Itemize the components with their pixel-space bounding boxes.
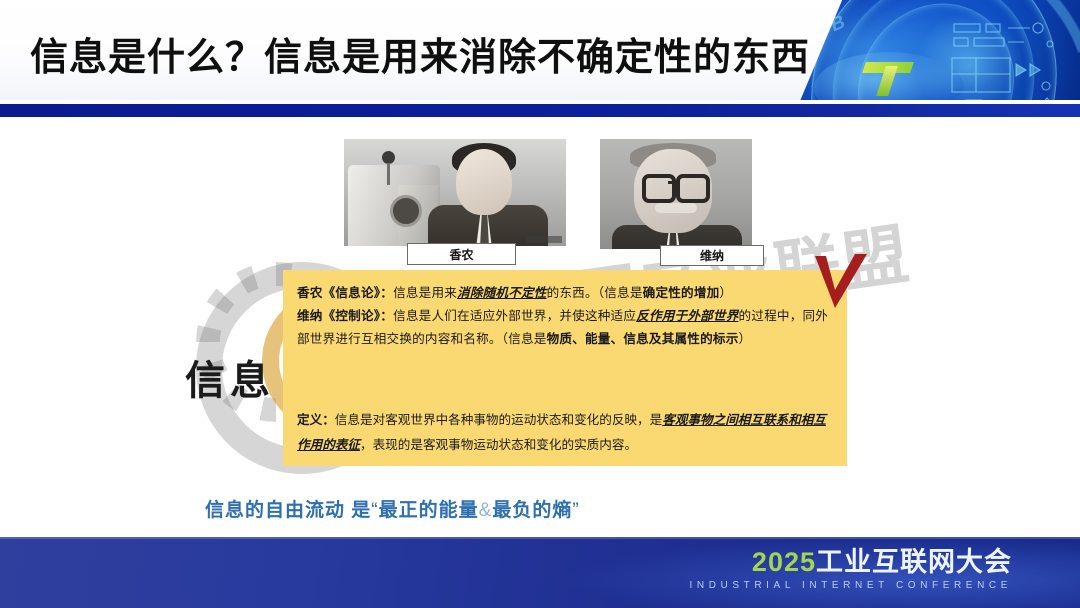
wiener-bold: 物质、能量、信息及其属性的标示 bbox=[547, 332, 739, 346]
shannon-text-b: 的东西。（信息是 bbox=[547, 286, 643, 300]
wiener-text-a: 信息是人们在适应外部世界，并使这种适应 bbox=[393, 309, 636, 323]
definition-label: 定义： bbox=[297, 413, 335, 427]
shannon-text-c: ） bbox=[719, 286, 732, 300]
closing-statement: 信息的自由流动 是“最正的能量&最负的熵” bbox=[205, 495, 580, 522]
slide-root: CB bbox=[0, 0, 1080, 608]
section-label-information: 信息 bbox=[185, 348, 275, 406]
logo-name-cn: 工业互联网大会 bbox=[816, 547, 1012, 577]
wiener-author: 维纳《控制论》： bbox=[297, 309, 393, 323]
footer-top-edge bbox=[0, 537, 1080, 539]
shannon-statement: 香农《信息论》：信息是用来消除随机不定性的东西。（信息是确定性的增加） bbox=[297, 282, 833, 305]
shannon-text-a: 信息是用来 bbox=[393, 286, 457, 300]
caption-wiener: 维纳 bbox=[660, 245, 764, 266]
circuit-pattern-icon bbox=[946, 14, 1074, 100]
shannon-author: 香农《信息论》： bbox=[297, 286, 393, 300]
photo-shannon bbox=[344, 139, 566, 246]
shannon-emphasis: 消除随机不定性 bbox=[457, 286, 547, 300]
highlight-content-box: 香农《信息论》：信息是用来消除随机不定性的东西。（信息是确定性的增加） 维纳《控… bbox=[283, 270, 847, 466]
wiener-statement: 维纳《控制论》：信息是人们在适应外部世界，并使这种适应反作用于外部世界的过程中，… bbox=[297, 305, 833, 351]
closing-lead: 信息的自由流动 是 bbox=[205, 500, 371, 521]
definition-statement: 定义：信息是对客观世界中各种事物的运动状态和变化的反映，是客观事物之间相互联系和… bbox=[297, 408, 833, 458]
conference-logo: 2025工业互联网大会 INDUSTRIAL INTERNET CONFEREN… bbox=[690, 547, 1012, 591]
header-divider-bar bbox=[0, 104, 1080, 117]
definition-text-a: 信息是对客观世界中各种事物的运动状态和变化的反映，是 bbox=[335, 413, 662, 427]
quote-close: ” bbox=[572, 500, 579, 521]
slide-footer: 2025工业互联网大会 INDUSTRIAL INTERNET CONFEREN… bbox=[0, 537, 1080, 608]
t-logo-icon bbox=[864, 62, 912, 96]
caption-shannon: 香农 bbox=[407, 243, 516, 265]
definition-text-b: ，表现的是客观事物运动状态和变化的实质内容。 bbox=[360, 438, 637, 452]
closing-phrase-a: 最正的能量 bbox=[379, 500, 479, 521]
logo-name-en: INDUSTRIAL INTERNET CONFERENCE bbox=[690, 580, 1012, 591]
quote-open: “ bbox=[371, 500, 378, 521]
page-title: 信息是什么？信息是用来消除不确定性的东西 bbox=[30, 26, 860, 81]
closing-amp: & bbox=[479, 500, 493, 521]
wiener-emphasis: 反作用于外部世界 bbox=[636, 309, 738, 323]
shannon-bold: 确定性的增加 bbox=[643, 286, 720, 300]
closing-phrase-b: 最负的熵 bbox=[492, 500, 572, 521]
logo-year: 2025 bbox=[752, 547, 816, 577]
slide-header: CB bbox=[0, 0, 1080, 100]
wiener-text-c: ） bbox=[738, 332, 751, 346]
photo-wiener bbox=[600, 139, 752, 249]
